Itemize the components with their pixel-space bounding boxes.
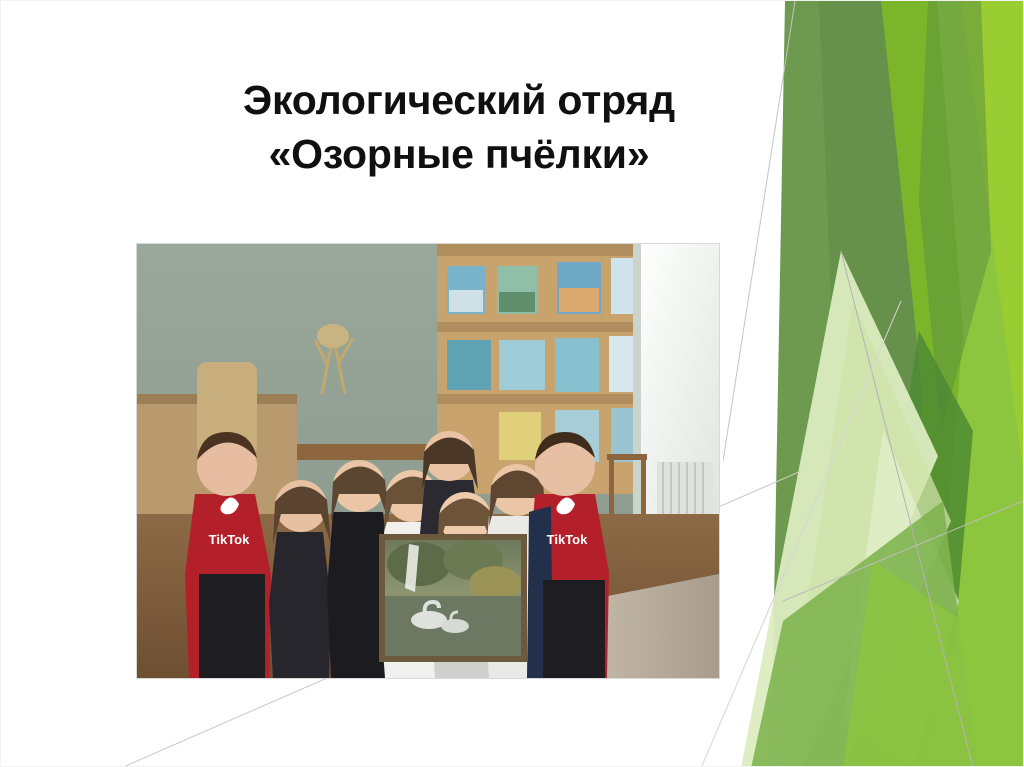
photo-hoodie-brand-2: TikTok [547,532,588,547]
hairline-diagonal-2 [841,251,973,767]
title-line-2: «Озорные пчёлки» [109,127,809,181]
polygon-sage-lower-2 [843,561,1023,767]
photo-framed-painting [379,534,527,662]
photo-child-2 [269,480,331,678]
polygon-pale-green-large [741,251,938,767]
slide-title: Экологический отряд «Озорные пчёлки» [109,73,809,181]
polygon-pale-green-small [843,431,959,767]
title-line-1: Экологический отряд [109,73,809,127]
polygon-bright-green-2 [853,1,963,767]
photo-radiator [657,462,713,514]
polygon-sage-dark [819,1,919,521]
presentation-slide: Экологический отряд «Озорные пчёлки» [0,0,1024,767]
polygon-dark-green-accent [919,1,991,431]
polygon-lime-right [873,1,1023,767]
hairline-diagonal-1 [723,1,795,461]
group-photo: TikTok [137,244,719,678]
photo-hoodie-brand: TikTok [209,532,250,547]
polygon-pale-green-mid [783,301,951,767]
hairline-diagonal-3 [783,501,1023,601]
polygon-sage-lower [751,501,978,767]
polygon-bright-green [873,1,1023,767]
polygon-dark-green-accent-2 [883,331,973,661]
